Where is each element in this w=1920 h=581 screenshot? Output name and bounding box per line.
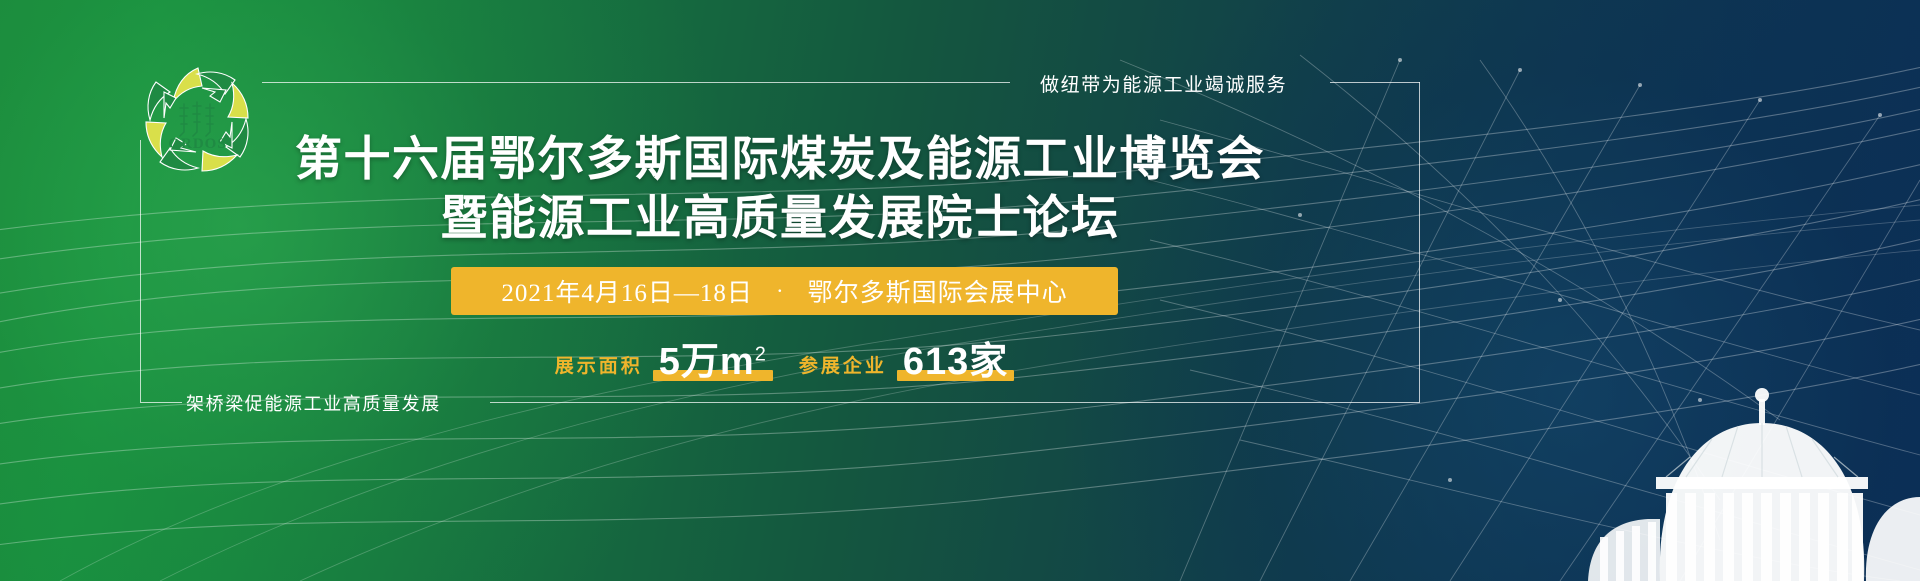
expo-banner: ORDOS 做纽带为能源工业竭诚服务 架桥梁促能源工业高质量发展 第十六届鄂尔多… xyxy=(0,0,1920,581)
date-venue-text: 2021年4月16日—18日 · 鄂尔多斯国际会展中心 xyxy=(501,273,1067,309)
divider-bottom-right xyxy=(490,402,1420,403)
tagline-top-right: 做纽带为能源工业竭诚服务 xyxy=(1040,70,1287,97)
stat-exhibition-area: 展示面积 5万m2 xyxy=(555,343,773,383)
separator-dot: · xyxy=(776,278,784,304)
stat-value-wrap: 5万m2 xyxy=(653,343,773,383)
stat-label: 展示面积 xyxy=(555,351,643,383)
event-date: 2021年4月16日—18日 xyxy=(501,280,753,307)
date-venue-bar: 2021年4月16日—18日 · 鄂尔多斯国际会展中心 xyxy=(451,267,1118,315)
divider-top-left xyxy=(262,82,1010,83)
stat-exhibitor-count: 参展企业 613家 xyxy=(799,343,1014,383)
divider-bottom-left xyxy=(140,402,182,403)
convention-center-building-icon xyxy=(1360,331,1920,581)
stat-value-text: 613家 xyxy=(903,341,1008,383)
stat-value: 5万m2 xyxy=(659,341,767,383)
stat-value-wrap: 613家 xyxy=(897,343,1014,383)
title-block: 第十六届鄂尔多斯国际煤炭及能源工业博览会 暨能源工业高质量发展院士论坛 xyxy=(0,132,1560,249)
stat-superscript: 2 xyxy=(755,343,767,365)
stat-label: 参展企业 xyxy=(799,351,887,383)
stat-value: 613家 xyxy=(903,341,1008,383)
page-subtitle: 暨能源工业高质量发展院士论坛 xyxy=(0,191,1560,248)
stats-row: 展示面积 5万m2 参展企业 613家 xyxy=(451,325,1118,383)
tagline-bottom-left: 架桥梁促能源工业高质量发展 xyxy=(186,390,441,416)
event-venue: 鄂尔多斯国际会展中心 xyxy=(808,280,1068,307)
page-title: 第十六届鄂尔多斯国际煤炭及能源工业博览会 xyxy=(0,132,1560,189)
stat-value-text: 5万m xyxy=(659,341,755,383)
divider-top-right xyxy=(1330,82,1420,83)
